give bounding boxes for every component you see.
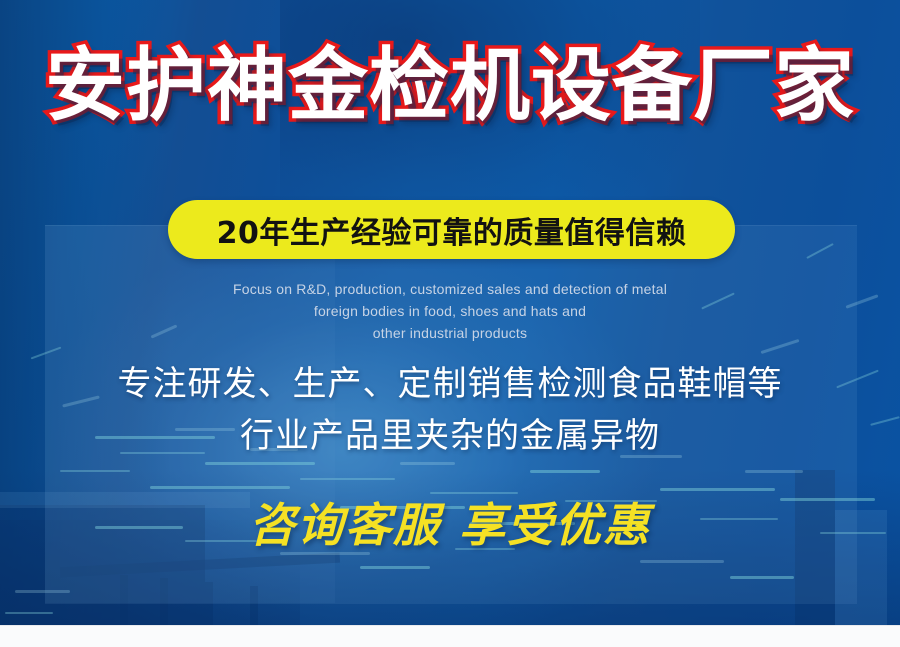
experience-badge: 20年生产经验可靠的质量值得信赖 xyxy=(168,200,735,259)
experience-badge-label: 20年生产经验可靠的质量值得信赖 xyxy=(217,208,687,252)
cta-text[interactable]: 咨询客服 享受优惠 xyxy=(0,489,900,555)
english-tagline-line-2: foreign bodies in food, shoes and hats a… xyxy=(0,300,900,322)
bottom-white-strip xyxy=(0,625,900,647)
english-tagline: Focus on R&D, production, customized sal… xyxy=(0,278,900,344)
page-title: 安护神金检机设备厂家 xyxy=(0,44,900,128)
chinese-tagline-line-2: 行业产品里夹杂的金属异物 xyxy=(0,410,900,462)
banner-content: 安护神金检机设备厂家 20年生产经验可靠的质量值得信赖 Focus on R&D… xyxy=(0,0,900,625)
english-tagline-line-3: other industrial products xyxy=(0,322,900,344)
promotional-banner: 安护神金检机设备厂家 20年生产经验可靠的质量值得信赖 Focus on R&D… xyxy=(0,0,900,647)
english-tagline-line-1: Focus on R&D, production, customized sal… xyxy=(0,278,900,300)
chinese-tagline-line-1: 专注研发、生产、定制销售检测食品鞋帽等 xyxy=(0,358,900,410)
chinese-tagline: 专注研发、生产、定制销售检测食品鞋帽等 行业产品里夹杂的金属异物 xyxy=(0,358,900,462)
